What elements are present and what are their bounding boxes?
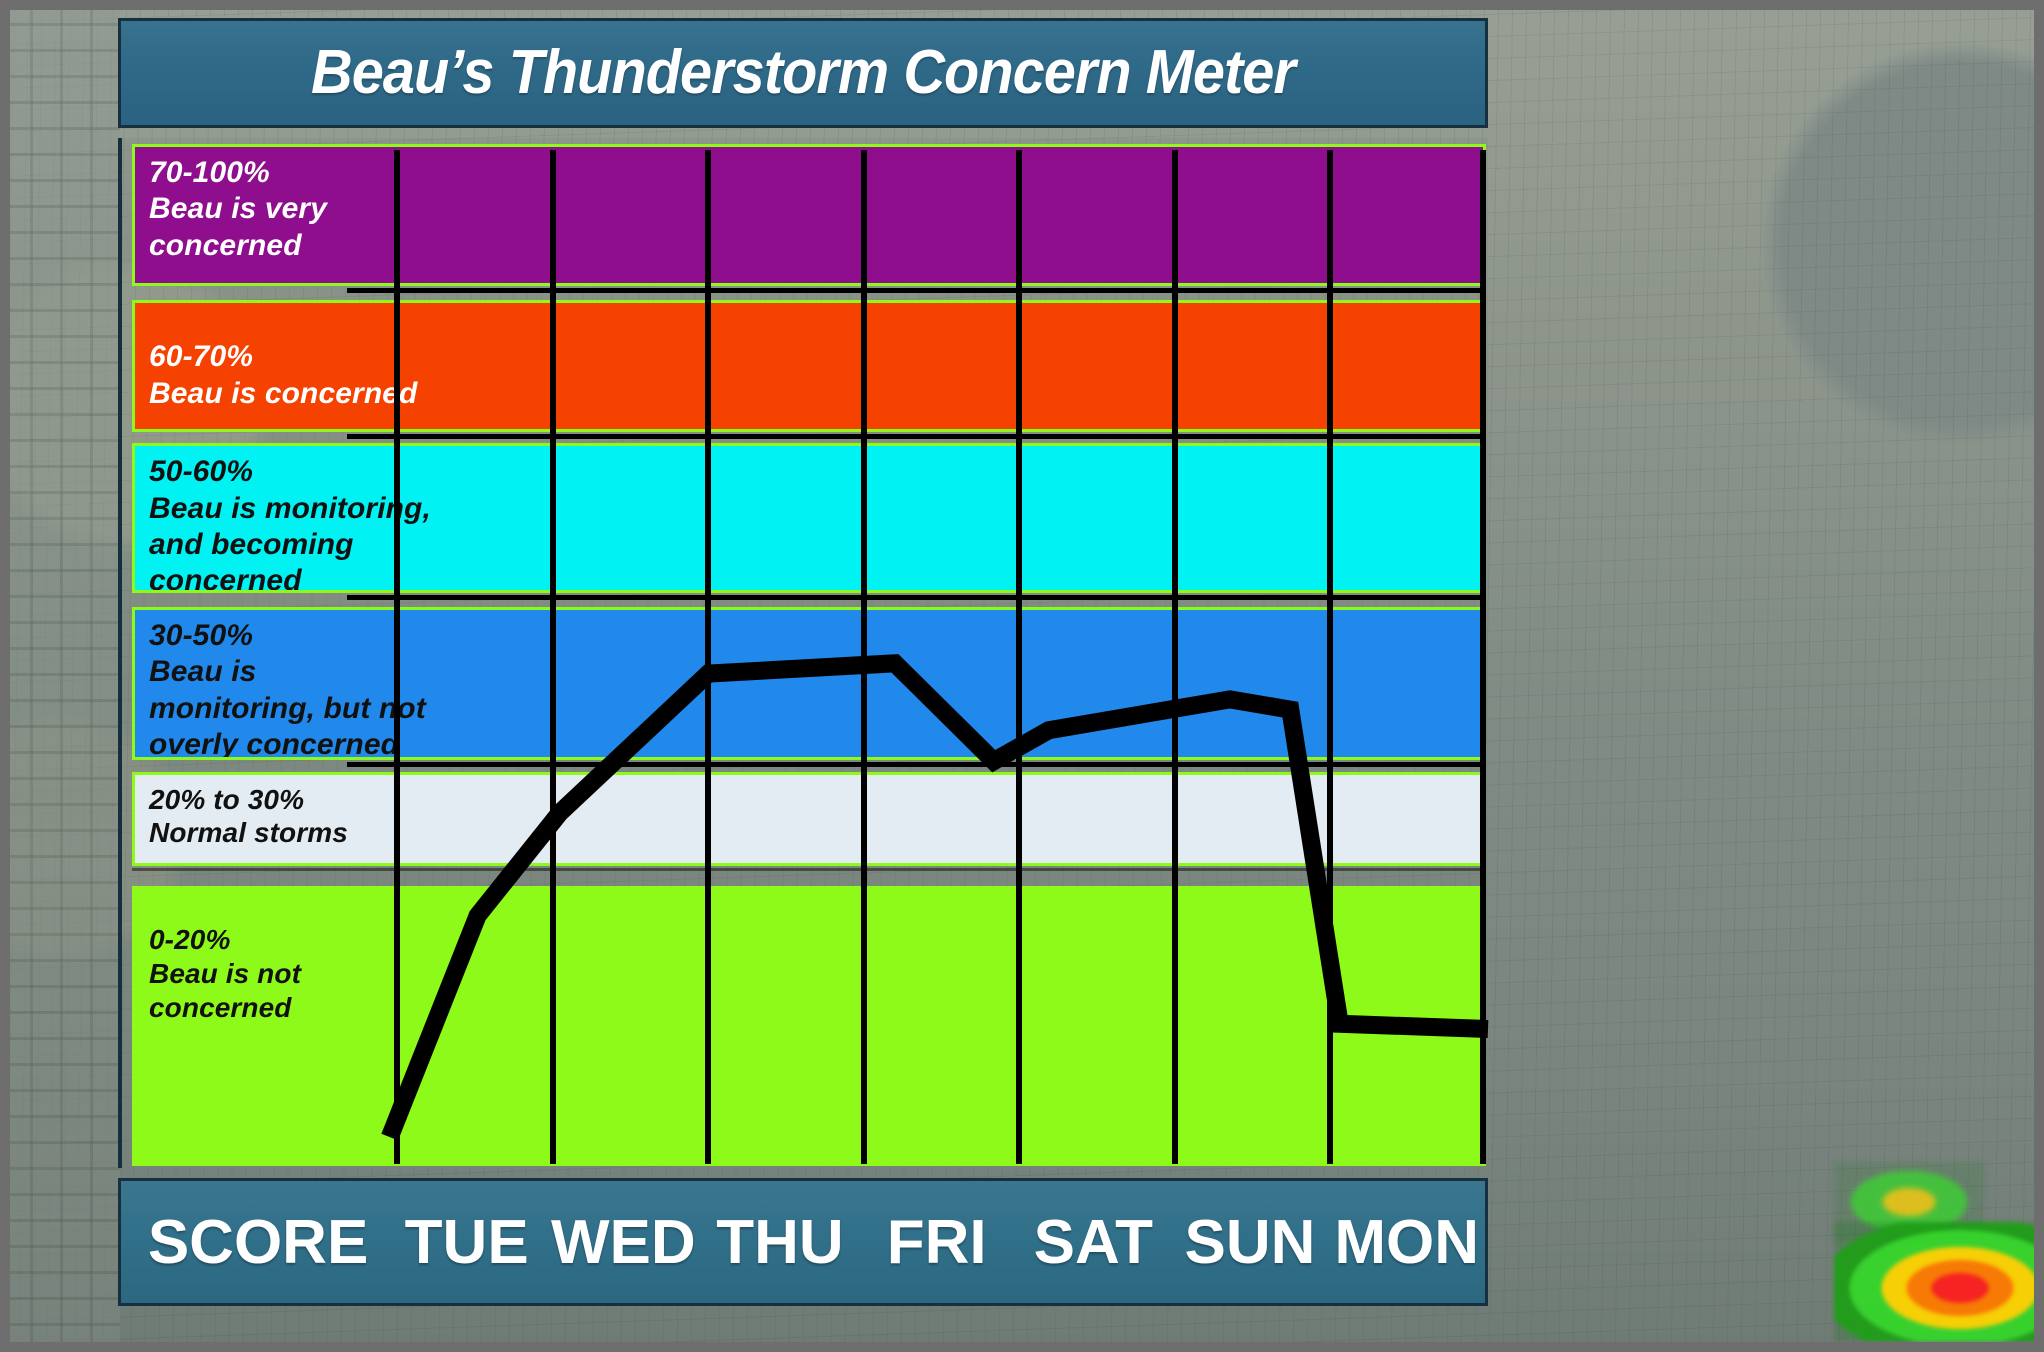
- radar-echo-primary: [1834, 1222, 2044, 1342]
- axis-label-wed: WED: [545, 1181, 702, 1303]
- concern-score-line: [122, 138, 1488, 1168]
- concern-meter-graphic: Beau’s Thunderstorm Concern Meter 70-100…: [0, 0, 2044, 1352]
- axis-label-sun: SUN: [1172, 1181, 1329, 1303]
- axis-label-score: SCORE: [128, 1181, 389, 1303]
- page-title: Beau’s Thunderstorm Concern Meter: [311, 42, 1295, 104]
- map-left-detail: [0, 0, 120, 1352]
- axis-label-mon: MON: [1328, 1181, 1485, 1303]
- day-axis-bar: SCORETUEWEDTHUFRISATSUNMON: [118, 1178, 1488, 1306]
- chart-area: 70-100% Beau is very concerned60-70% Bea…: [118, 138, 1488, 1168]
- score-polyline: [390, 663, 1488, 1137]
- axis-label-fri: FRI: [858, 1181, 1015, 1303]
- axis-label-tue: TUE: [388, 1181, 545, 1303]
- title-bar: Beau’s Thunderstorm Concern Meter: [118, 18, 1488, 128]
- axis-label-sat: SAT: [1015, 1181, 1172, 1303]
- axis-label-thu: THU: [702, 1181, 859, 1303]
